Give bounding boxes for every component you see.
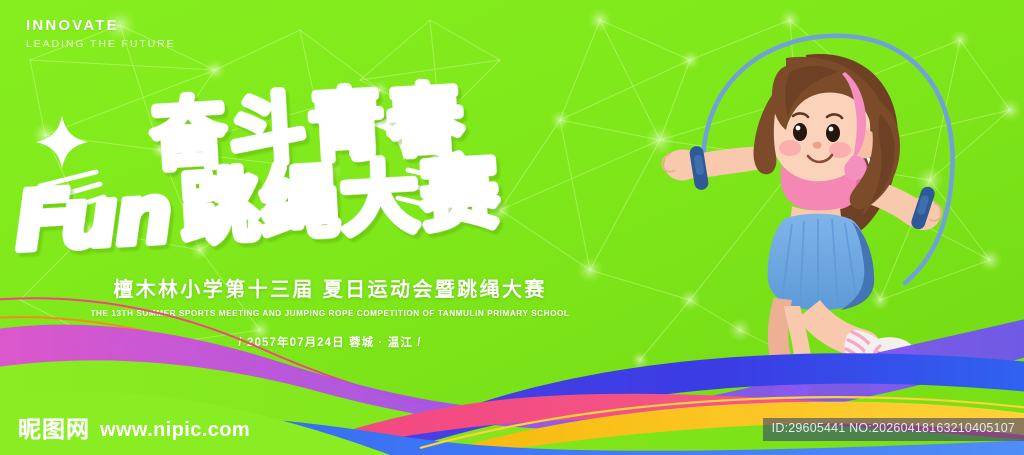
brand-tagline: LEADING THE FUTURE [26,39,176,50]
site-watermark: 昵图网 www.nipic.com [18,418,250,441]
poster-canvas: INNOVATE LEADING THE FUTURE [0,0,1024,455]
watermark-site-url: www.nipic.com [100,420,250,440]
brand-logo: INNOVATE LEADING THE FUTURE [26,18,176,50]
id-badge: ID:29605441 NO:20260418163210405107 [763,418,1024,441]
wave-ribbons-layer [0,0,1024,455]
watermark-site-name: 昵图网 [18,418,90,441]
brand-title: INNOVATE [26,18,176,33]
